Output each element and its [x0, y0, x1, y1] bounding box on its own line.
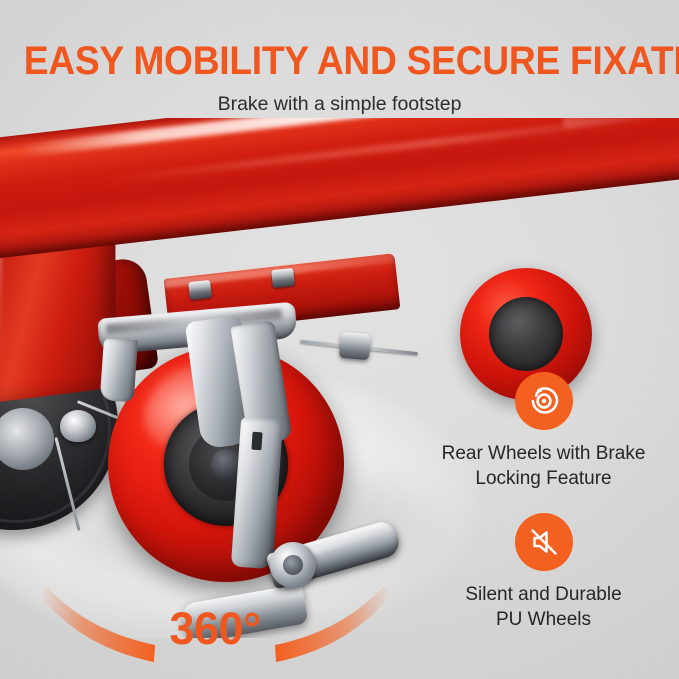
- feature-item-silent-pu: Silent and Durable PU Wheels: [408, 513, 679, 632]
- mute-speaker-icon: [515, 513, 573, 571]
- feature-label: Silent and Durable PU Wheels: [408, 582, 679, 632]
- page-title: EASY MOBILITY AND SECURE FIXATION: [24, 39, 655, 83]
- mounting-bolt: [188, 280, 212, 300]
- brake-disc-icon: [515, 372, 573, 430]
- axle-nut: [339, 332, 371, 361]
- swivel-caster-fork: [91, 301, 312, 437]
- feature-item-brake-lock: Rear Wheels with Brake Locking Feature: [408, 372, 679, 491]
- brake-arm-notch: [251, 432, 262, 451]
- swivel-360-label: 360°: [40, 604, 390, 654]
- feature-list: Rear Wheels with Brake Locking Feature S…: [408, 372, 679, 654]
- wheel-hub: [489, 297, 563, 371]
- page-subtitle: Brake with a simple footstep: [0, 91, 679, 117]
- left-axle-nut: [60, 410, 96, 442]
- red-steel-beam: [0, 118, 679, 260]
- product-feature-poster: EASY MOBILITY AND SECURE FIXATION Brake …: [0, 0, 679, 679]
- fork-left-leg: [100, 338, 138, 402]
- feature-label: Rear Wheels with Brake Locking Feature: [408, 441, 679, 491]
- mounting-bolt: [271, 268, 295, 288]
- swivel-360-badge: 360°: [40, 578, 390, 668]
